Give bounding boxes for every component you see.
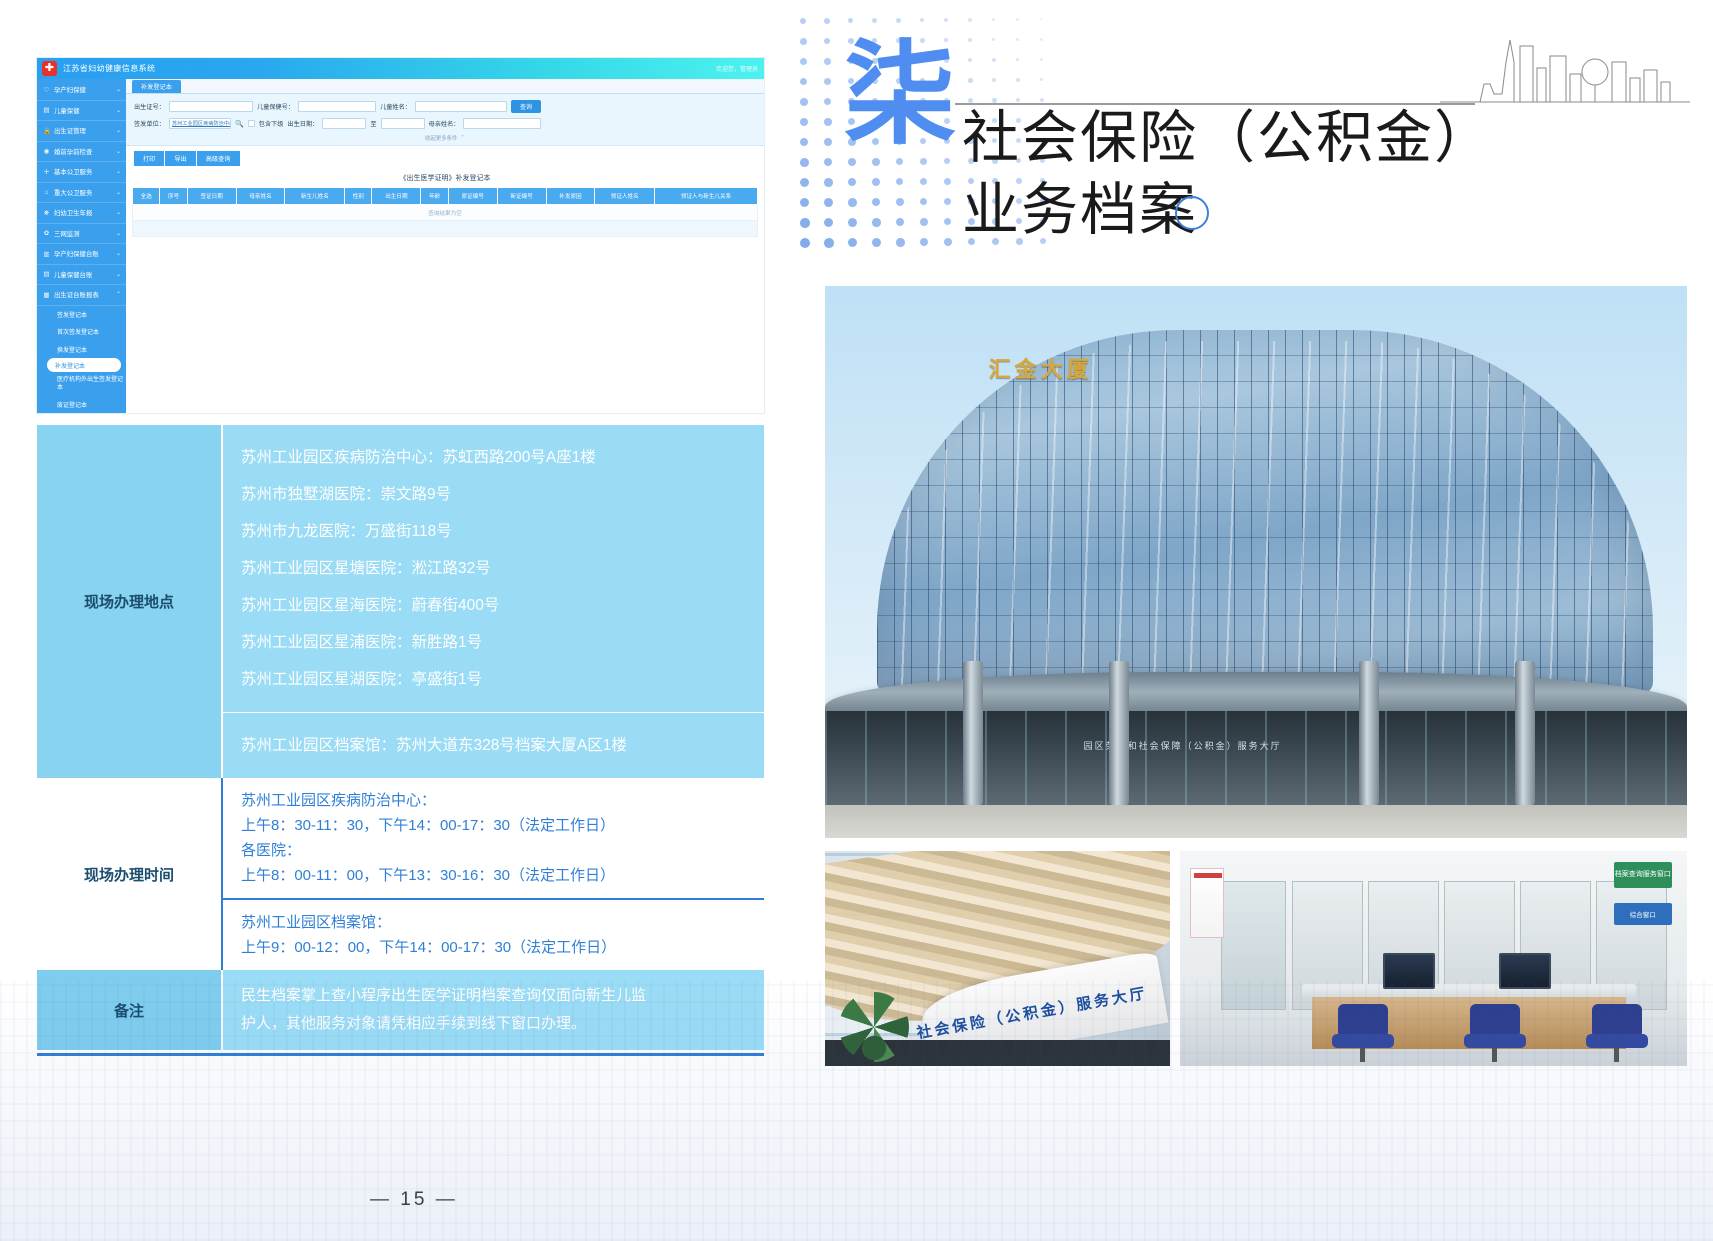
grid-filler-cell (133, 221, 758, 237)
sidebar-item-label: 婚前孕前检查 (54, 147, 112, 156)
col-birth-date: 出生日期 (372, 188, 421, 205)
decorative-dot (896, 218, 904, 226)
decorative-dot (800, 218, 810, 228)
decorative-dot (800, 78, 807, 85)
decorative-dot (944, 158, 950, 164)
page-title-line1: 社会保险（公积金） (962, 103, 1702, 175)
decorative-dot (824, 178, 833, 187)
search-panel: 出生证号： 儿童保健号： 儿童姓名： 查询 签发单位： 苏州工业园区疾病防治中心… (126, 94, 764, 146)
advanced-query-button[interactable]: 高级查询 (197, 151, 241, 166)
decorative-dot (992, 78, 996, 82)
decorative-dot (920, 218, 928, 226)
photo-chair-leg (1492, 1048, 1497, 1062)
sidebar-item-4[interactable]: ✛ 基本公卫服务 ⌄ (37, 162, 126, 183)
col-gender: 性别 (345, 188, 372, 205)
decorative-dot (824, 198, 833, 207)
sidebar-subitem-1[interactable]: 首次签发登记本 (37, 323, 126, 341)
note-cell: 民生档案掌上查小程序出生医学证明档案查询仅面向新生儿监 护人，其他服务对象请凭相… (222, 970, 764, 1050)
child-name-label: 儿童姓名： (380, 102, 411, 111)
magnifier-icon[interactable]: 🔍 (235, 120, 244, 128)
title-circle-decoration (1175, 196, 1209, 230)
decorative-dot (800, 18, 806, 24)
sidebar-item-label: 妇幼卫生年报 (54, 208, 112, 217)
decorative-dot (800, 38, 807, 45)
decorative-dot (1016, 18, 1019, 21)
cross-icon: ✛ (43, 168, 50, 176)
sidebar-subitem-4[interactable]: 医疗机构外出生签发登记本 (37, 372, 126, 396)
photo-lobby-glass (825, 711, 1687, 805)
photo-building-exterior: 汇金大厦 园区劳动和社会保障（公积金）服务大厅 (825, 286, 1687, 838)
decorative-dot (896, 238, 905, 247)
list-item: 苏州市独墅湖医院：崇文路9号 (241, 476, 764, 513)
col-newborn-name: 新生儿姓名 (285, 188, 345, 205)
sidebar-item-8[interactable]: ▥ 孕产妇保健台账 ⌄ (37, 244, 126, 265)
sidebar-item-label: 孕产妇保健台账 (54, 249, 112, 258)
decorative-dot (848, 238, 857, 247)
sidebar-item-5[interactable]: ⌂ 重大公卫服务 ⌄ (37, 183, 126, 204)
table-row-note: 备注 民生档案掌上查小程序出生医学证明档案查询仅面向新生儿监 护人，其他服务对象… (37, 970, 764, 1050)
decorative-dot (824, 158, 832, 166)
decorative-dot (992, 38, 995, 41)
birth-cert-no-input[interactable] (169, 101, 253, 112)
red-badge-icon: ✚ (42, 61, 57, 76)
search-row-2: 签发单位： 苏州工业园区疾病防治中心 🔍 包含下级 出生日期： 至 母亲姓名： (134, 118, 756, 129)
list-item: 苏州工业园区档案馆： (241, 910, 764, 935)
chevron-down-icon: ⌄ (116, 209, 121, 216)
decorative-dot (920, 158, 927, 165)
photo-chair-back (1592, 1004, 1642, 1038)
sidebar-item-label: 出生证台账报表 (54, 290, 112, 299)
sidebar-item-1[interactable]: ▤ 儿童保健 ⌄ (37, 101, 126, 122)
col-age: 年龄 (421, 188, 448, 205)
sidebar-item-2[interactable]: 🔒 出生证管理 ⌄ (37, 121, 126, 142)
list-item: 苏州工业园区疾病防治中心：苏虹西路200号A座1楼 (241, 439, 764, 476)
sidebar-subitem-0[interactable]: 签发登记本 (37, 306, 126, 324)
sidebar-item-9[interactable]: ▤ 儿童保健台账 ⌄ (37, 265, 126, 286)
list-item: 苏州工业园区星湖医院：亭盛街1号 (241, 661, 764, 698)
decorative-dot (848, 218, 857, 227)
decorative-dot (848, 158, 856, 166)
mother-name-input[interactable] (463, 118, 541, 129)
book-icon: ▤ (43, 106, 50, 114)
sidebar-item-label: 三网监测 (54, 229, 112, 238)
chart-icon: ❋ (43, 209, 50, 217)
decorative-dot (992, 98, 997, 103)
sidebar-item-6[interactable]: ❋ 妇幼卫生年报 ⌄ (37, 203, 126, 224)
child-health-no-input[interactable] (298, 101, 376, 112)
sidebar-item-label: 出生证管理 (54, 126, 112, 135)
photo-monitor (1383, 953, 1435, 989)
decorative-dot (872, 238, 881, 247)
decorative-dot (920, 238, 928, 246)
photo-chair-back (1338, 1004, 1388, 1038)
decorative-dot (800, 198, 809, 207)
photo-service-hall: 社会保险（公积金）服务大厅 (825, 851, 1170, 1066)
decorative-dot (872, 158, 880, 166)
col-relation: 领证人与新生儿关系 (655, 188, 758, 205)
photo-pillar (1359, 661, 1379, 805)
decorative-dot (824, 18, 830, 24)
list-item: 各医院： (241, 838, 764, 863)
export-button[interactable]: 导出 (165, 151, 196, 166)
time-archive-cell: 苏州工业园区档案馆： 上午9：00-12：00，下午14：00-17：30（法定… (222, 899, 764, 970)
table-row-time: 现场办理时间 苏州工业园区疾病防治中心： 上午8：30-11：30，下午14：0… (37, 778, 764, 899)
sidebar-subitem-3-selected[interactable]: 补发登记本 (47, 358, 121, 372)
photo-ground (825, 805, 1687, 838)
sidebar-item-label: 孕产妇保健 (54, 85, 112, 94)
net-icon: ✿ (43, 229, 50, 237)
section-number: 柒 (844, 40, 956, 152)
note-line: 护人，其他服务对象请凭相应手续到线下窗口办理。 (241, 1010, 746, 1038)
bell-icon: ⌂ (43, 189, 50, 196)
decorative-dot (824, 38, 830, 44)
chevron-down-icon: ⌄ (116, 127, 121, 134)
decorative-dot (1016, 58, 1019, 61)
col-new-cert-no: 新证编号 (497, 188, 546, 205)
child-name-input[interactable] (415, 101, 507, 112)
row-header-note: 备注 (37, 970, 222, 1050)
chevron-up-icon: ⌃ (460, 135, 465, 141)
list-item: 上午8：30-11：30，下午14：00-17：30（法定工作日） (241, 813, 764, 838)
decorative-dot (1016, 78, 1020, 82)
sidebar-item-label: 基本公卫服务 (54, 167, 112, 176)
decorative-dot (848, 198, 857, 207)
chevron-up-icon: ⌃ (116, 291, 121, 298)
list-item: 苏州工业园区档案馆：苏州大道东328号档案大厦A区1楼 (241, 727, 764, 764)
decorative-dot (800, 138, 808, 146)
sidebar-subitem-2[interactable]: 换发登记本 (37, 341, 126, 359)
decorative-dot (944, 238, 952, 246)
search-row-1: 出生证号： 儿童保健号： 儿童姓名： 查询 (134, 100, 756, 113)
decorative-dot (824, 218, 833, 227)
report-icon: ▦ (43, 291, 50, 299)
photo-pillar (1515, 661, 1535, 805)
col-mother-name: 母亲姓名 (236, 188, 285, 205)
chevron-down-icon: ⌄ (116, 271, 121, 278)
skyline-icon (1440, 22, 1690, 106)
photo-notice-red-bar (1194, 873, 1222, 878)
service-info-table: 现场办理地点 苏州工业园区疾病防治中心：苏虹西路200号A座1楼 苏州市独墅湖医… (37, 425, 764, 1050)
decorative-dot (920, 178, 927, 185)
app-titlebar: ✚ 江苏省妇幼健康信息系统 欢迎您，管理员 (37, 58, 764, 79)
decorative-dot (1040, 78, 1043, 81)
list-item: 苏州工业园区星浦医院：新胜路1号 (241, 624, 764, 661)
list-item: 苏州工业园区星塘医院：淞江路32号 (241, 550, 764, 587)
include-sub-label: 包含下级 (259, 119, 284, 128)
decorative-dot (968, 18, 972, 22)
chevron-down-icon: ⌄ (116, 189, 121, 196)
photo-chair-seat (1464, 1034, 1526, 1048)
location-hospitals-cell: 苏州工业园区疾病防治中心：苏虹西路200号A座1楼 苏州市独墅湖医院：崇文路9号… (222, 425, 764, 713)
col-old-cert-no: 原证编号 (448, 188, 497, 205)
grid-title: 《出生医学证明》补发登记本 (126, 173, 764, 183)
decorative-dot (872, 178, 880, 186)
chevron-down-icon: ⌄ (116, 168, 121, 175)
decorative-dot (800, 58, 807, 65)
decorative-dot (800, 158, 809, 167)
photo-chair (1332, 1004, 1394, 1062)
birth-date-to-input[interactable] (381, 118, 425, 129)
photo-notice-board (1190, 868, 1224, 938)
table-header-row: 全选 序号 签证日期 母亲姓名 新生儿姓名 性别 出生日期 年龄 原证编号 新证… (133, 188, 758, 205)
decorative-dot (800, 118, 808, 126)
table-bottom-rule (37, 1053, 764, 1056)
collapse-more-conditions[interactable]: 收起更多条件 ⌃ (134, 134, 756, 142)
decorative-dot (824, 98, 831, 105)
photo-chair-seat (1332, 1034, 1394, 1048)
photo-chair (1586, 1004, 1648, 1062)
sidebar-item-7[interactable]: ✿ 三网监测 ⌄ (37, 224, 126, 245)
photo-chair-leg (1614, 1048, 1619, 1062)
decorative-dot (968, 38, 972, 42)
decorative-dot (872, 198, 880, 206)
sidebar-item-label: 重大公卫服务 (54, 188, 112, 197)
table-row: 查询结果为空 (133, 205, 758, 221)
decorative-dot (848, 18, 853, 23)
tab-active[interactable]: 补发登记本 (132, 80, 181, 93)
decorative-dot (968, 78, 973, 83)
decorative-dot (872, 18, 877, 23)
decorative-dot (824, 58, 831, 65)
child-health-no-label: 儿童保健号： (257, 102, 294, 111)
decorative-dot (1016, 98, 1020, 102)
decorative-dot (848, 178, 856, 186)
time-hospitals-cell: 苏州工业园区疾病防治中心： 上午8：30-11：30，下午14：00-17：30… (222, 778, 764, 899)
sidebar-item-10[interactable]: ▦ 出生证台账报表 ⌃ (37, 285, 126, 306)
decorative-dot (824, 78, 831, 85)
decorative-dot (1040, 18, 1042, 20)
photo-lobby: 园区劳动和社会保障（公积金）服务大厅 (825, 711, 1687, 805)
lock-icon: 🔒 (43, 127, 50, 135)
building-name-sign: 汇金大厦 (989, 352, 1093, 384)
sidebar-item-3[interactable]: ◉ 婚前孕前检查 ⌄ (37, 142, 126, 163)
chevron-down-icon: ⌄ (116, 148, 121, 155)
right-page: 柒 社会保险（公积金） 业务档案 (800, 0, 1713, 1241)
photo-chair (1464, 1004, 1526, 1062)
location-archive-cell: 苏州工业园区档案馆：苏州大道东328号档案大厦A区1楼 (222, 713, 764, 779)
office-green-sign: 档案查询服务窗口 (1614, 862, 1672, 888)
list-item: 苏州工业园区疾病防治中心： (241, 788, 764, 813)
app-title: 江苏省妇幼健康信息系统 (63, 63, 155, 74)
decorative-dot (968, 58, 972, 62)
decorative-dot (896, 18, 901, 23)
table-row-location: 现场办理地点 苏州工业园区疾病防治中心：苏虹西路200号A座1楼 苏州市独墅湖医… (37, 425, 764, 713)
app-body: ♡ 孕产妇保健 ⌄ ▤ 儿童保健 ⌄ 🔒 出生证管理 ⌄ (37, 79, 764, 413)
col-receiver-name: 领证人姓名 (595, 188, 655, 205)
list-item: 上午8：00-11：00，下午13：30-16：30（法定工作日） (241, 863, 764, 888)
chevron-down-icon: ⌄ (116, 230, 121, 237)
heart-icon: ♡ (43, 86, 50, 94)
ledger-icon: ▤ (43, 270, 50, 278)
decorative-dot (992, 18, 995, 21)
issuing-unit-label: 签发单位： (134, 119, 165, 128)
sidebar-item-0[interactable]: ♡ 孕产妇保健 ⌄ (37, 80, 126, 101)
list-item: 上午9：00-12：00，下午14：00-17：30（法定工作日） (241, 935, 764, 960)
decorative-dot (896, 198, 904, 206)
photo-plant (839, 992, 909, 1062)
col-reissue-reason: 补发原因 (546, 188, 595, 205)
sidebar-item-label: 儿童保健台账 (54, 270, 112, 279)
decorative-dot (800, 98, 808, 106)
ledger-icon: ▥ (43, 250, 50, 258)
circle-icon: ◉ (43, 147, 50, 155)
decorative-dot (920, 198, 927, 205)
col-issue-date: 签证日期 (187, 188, 236, 205)
decorative-dot (944, 218, 951, 225)
decorative-dot (944, 18, 948, 22)
office-blue-sign: 综合窗口 (1614, 903, 1672, 925)
records-table: 全选 序号 签证日期 母亲姓名 新生儿姓名 性别 出生日期 年龄 原证编号 新证… (132, 187, 758, 237)
col-select-all[interactable]: 全选 (133, 188, 160, 205)
birth-cert-no-label: 出生证号： (134, 102, 165, 111)
decorative-dot (800, 238, 810, 248)
decorative-dot (824, 138, 832, 146)
photo-monitor (1499, 953, 1551, 989)
row-header-location: 现场办理地点 (37, 425, 222, 778)
chevron-down-icon: ⌄ (116, 250, 121, 257)
decorative-dot (920, 18, 924, 22)
list-item: 苏州工业园区星海医院：蔚春街400号 (241, 587, 764, 624)
decorative-dot (1040, 98, 1044, 102)
app-sidebar[interactable]: ♡ 孕产妇保健 ⌄ ▤ 儿童保健 ⌄ 🔒 出生证管理 ⌄ (37, 79, 126, 413)
app-user-label: 欢迎您，管理员 (716, 64, 758, 73)
photo-pillar (963, 661, 983, 805)
grid-empty-cell: 查询结果为空 (133, 205, 758, 221)
decorative-dot (944, 198, 951, 205)
photo-chair-back (1470, 1004, 1520, 1038)
photo-chair-leg (1360, 1048, 1365, 1062)
note-line: 民生档案掌上查小程序出生医学证明档案查询仅面向新生儿监 (241, 982, 746, 1010)
decorative-dot (872, 218, 881, 227)
left-page: ✚ 江苏省妇幼健康信息系统 欢迎您，管理员 ♡ 孕产妇保健 ⌄ ▤ 儿童保健 ⌄ (0, 0, 800, 1241)
include-sub-checkbox[interactable] (248, 120, 255, 127)
page-title: 社会保险（公积金） 业务档案 (962, 103, 1702, 247)
decorative-dot (1040, 38, 1043, 41)
decorative-dot (1040, 58, 1043, 61)
photo-archive-office: 档案查询服务窗口 综合窗口 (1180, 851, 1687, 1066)
app-main: 补发登记本 出生证号： 儿童保健号： 儿童姓名： 查询 (126, 79, 764, 413)
sidebar-subitem-5[interactable]: 废证登记本 (37, 396, 126, 413)
application-screenshot: ✚ 江苏省妇幼健康信息系统 欢迎您，管理员 ♡ 孕产妇保健 ⌄ ▤ 儿童保健 ⌄ (37, 58, 764, 413)
query-button[interactable]: 查询 (511, 100, 541, 113)
decorative-dot (1016, 38, 1019, 41)
birth-date-label: 出生日期： (287, 119, 318, 128)
page-number-left: — 15 — (370, 1189, 458, 1211)
sidebar-item-label: 儿童保健 (54, 106, 112, 115)
tabstrip: 补发登记本 (126, 79, 764, 94)
photo-chair-seat (1586, 1034, 1648, 1048)
page-root: ✚ 江苏省妇幼健康信息系统 欢迎您，管理员 ♡ 孕产妇保健 ⌄ ▤ 儿童保健 ⌄ (0, 0, 1713, 1241)
birth-date-from-input[interactable] (322, 118, 366, 129)
decorative-dot (896, 178, 903, 185)
decorative-dot (896, 158, 903, 165)
decorative-dot (800, 178, 809, 187)
decorative-dot (944, 178, 951, 185)
chevron-down-icon: ⌄ (116, 107, 121, 114)
print-button[interactable]: 打印 (134, 151, 165, 166)
photo-desk-counter (1302, 984, 1637, 997)
table-row (133, 221, 758, 237)
photo-cabinet (1221, 881, 1287, 1010)
list-item: 苏州市九龙医院：万盛街118号 (241, 513, 764, 550)
grid-toolbar: 打印 导出 高级查询 (126, 146, 764, 171)
issuing-unit-input[interactable]: 苏州工业园区疾病防治中心 (169, 118, 231, 129)
decorative-dot (992, 58, 996, 62)
chevron-down-icon: ⌄ (116, 86, 121, 93)
col-index: 序号 (160, 188, 187, 205)
decorative-dot (824, 238, 834, 248)
date-range-separator: 至 (370, 119, 376, 128)
row-header-time: 现场办理时间 (37, 778, 222, 970)
decorative-dot (824, 118, 832, 126)
photo-pillar (1109, 661, 1129, 805)
mother-name-label: 母亲姓名： (429, 119, 460, 128)
page-title-line2: 业务档案 (962, 175, 1702, 247)
collapse-label: 收起更多条件 (425, 134, 457, 142)
